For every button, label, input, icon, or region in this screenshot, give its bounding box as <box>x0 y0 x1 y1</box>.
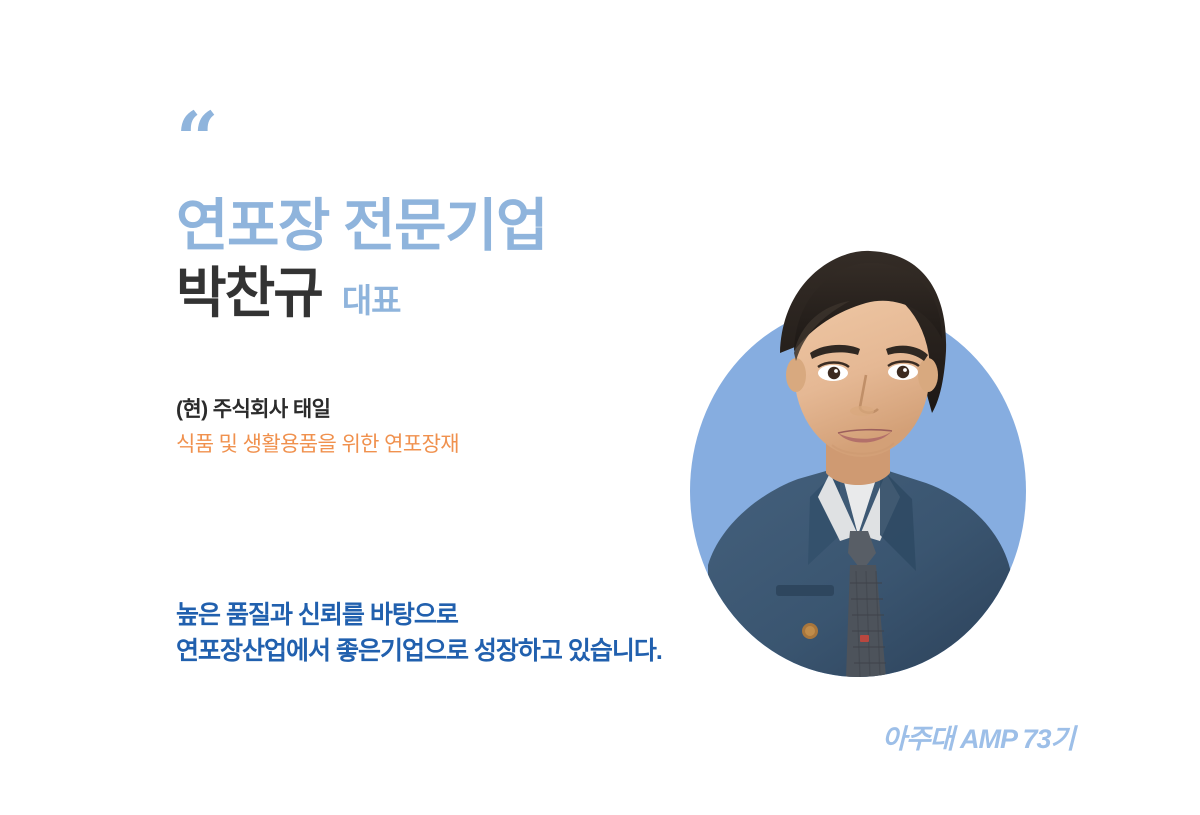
tagline-line-2: 연포장산업에서 좋은기업으로 성장하고 있습니다. <box>176 634 662 670</box>
tagline-line-1: 높은 품질과 신뢰를 바탕으로 <box>176 598 662 634</box>
portrait-photo: 아주대 AMP 73기 <box>690 305 1026 677</box>
tagline: 높은 품질과 신뢰를 바탕으로 연포장산업에서 좋은기업으로 성장하고 있습니다… <box>176 598 662 669</box>
portrait-head <box>780 251 946 457</box>
person-name: 박찬규 <box>176 264 322 323</box>
portrait-person-illustration <box>690 235 1026 677</box>
quote-mark-icon: “ <box>176 120 796 172</box>
portrait-container: 아주대 AMP 73기 <box>660 210 1060 690</box>
portrait-caption: 아주대 AMP 73기 <box>882 717 1074 756</box>
profile-card: “ 연포장 전문기업 박찬규 대표 (현) 주식회사 태일 식품 및 생활용품을… <box>0 0 1200 815</box>
person-role: 대표 <box>342 274 401 322</box>
